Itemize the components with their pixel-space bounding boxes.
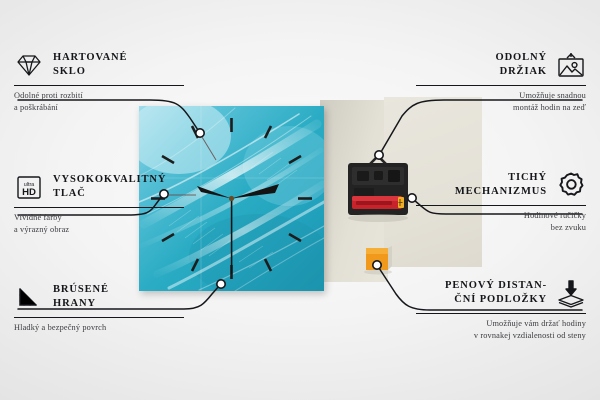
divider [14, 317, 184, 318]
divider [416, 313, 586, 314]
ultra-hd-icon: ultra HD [14, 172, 44, 202]
divider [416, 205, 586, 206]
feature-subtitle: Umožňuje vám držať hodinyv rovnakej vzdi… [416, 318, 586, 342]
feature-title: PENOVÝ DISTAN-ČNÍ PODLOŽKY [445, 279, 547, 307]
feature-silent-mechanism: TICHÝMECHANIZMUS Hodinové ručičkybez zvu… [416, 168, 586, 234]
feature-tempered-glass: HARTOVANÉSKLO Odolné proti rozbitía pošk… [14, 48, 184, 114]
feature-title: VYSOKOKVALITNÝTLAČ [53, 173, 166, 201]
feature-foam-spacers: PENOVÝ DISTAN-ČNÍ PODLOŽKY Umožňuje vám … [416, 276, 586, 342]
feature-header: HARTOVANÉSKLO [14, 48, 184, 82]
feature-subtitle: Umožňuje snadnoumontáž hodin na zeď [416, 90, 586, 114]
svg-text:HD: HD [22, 187, 36, 198]
feature-title: HARTOVANÉSKLO [53, 51, 127, 79]
divider [416, 85, 586, 86]
feature-title: ODOLNÝDRŽIAK [496, 51, 548, 79]
feature-header: ultra HD VYSOKOKVALITNÝTLAČ [14, 170, 184, 204]
feature-header: ODOLNÝDRŽIAK [416, 48, 586, 82]
feature-subtitle: Hodinové ručičkybez zvuku [416, 210, 586, 234]
feature-ground-edges: BRÚSENÉHRANY Hladký a bezpečný povrch [14, 280, 184, 334]
ground-edges-icon [14, 282, 44, 312]
picture-hanger-icon [556, 50, 586, 80]
feature-high-quality-print: ultra HD VYSOKOKVALITNÝTLAČ Vividné farb… [14, 170, 184, 236]
foam-pad-icon [556, 278, 586, 308]
feature-subtitle: Odolné proti rozbitía poškrábání [14, 90, 184, 114]
infographic-canvas: HARTOVANÉSKLO Odolné proti rozbitía pošk… [0, 0, 600, 400]
feature-header: PENOVÝ DISTAN-ČNÍ PODLOŽKY [416, 276, 586, 310]
clock-mechanism-group [330, 150, 426, 280]
feature-title: BRÚSENÉHRANY [53, 283, 109, 311]
feature-title: TICHÝMECHANIZMUS [455, 171, 547, 199]
divider [14, 85, 184, 86]
feature-subtitle: Hladký a bezpečný povrch [14, 322, 184, 334]
diamond-icon [14, 50, 44, 80]
feature-header: TICHÝMECHANIZMUS [416, 168, 586, 202]
feature-durable-holder: ODOLNÝDRŽIAK Umožňuje snadnoumontáž hodi… [416, 48, 586, 114]
gear-icon [556, 170, 586, 200]
feature-header: BRÚSENÉHRANY [14, 280, 184, 314]
feature-subtitle: Vividné farbya výrazný obraz [14, 212, 184, 236]
divider [14, 207, 184, 208]
